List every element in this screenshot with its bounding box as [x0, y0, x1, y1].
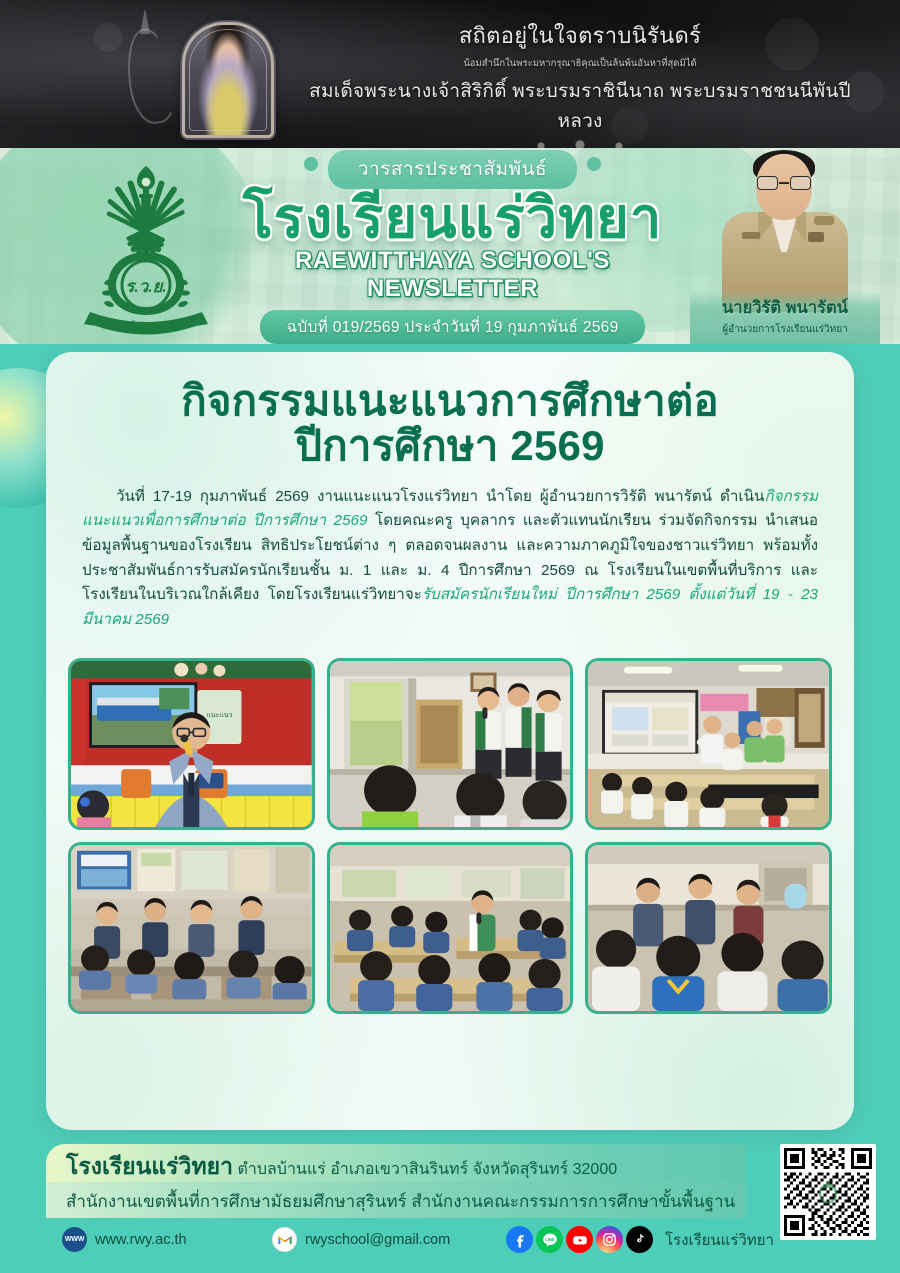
director-portrait-block: นายวิรัติ พนารัตน์ ผู้อำนวยการโรงเรียนแร… — [690, 148, 880, 344]
issue-date-badge: ฉบับที่ 019/2569 ประจำวันที่ 19 กุมภาพัน… — [260, 310, 644, 344]
youtube-icon[interactable] — [566, 1226, 593, 1253]
footer: โรงเรียนแร่วิทยา ตำบลบ้านแร่ อำเภอเขวาสิ… — [0, 1138, 900, 1273]
svg-text:แนะแนว: แนะแนว — [206, 713, 232, 720]
social-account-name: โรงเรียนแร่วิทยา — [665, 1228, 774, 1252]
school-name-thai: โรงเรียนแร่วิทยา — [215, 191, 690, 246]
newsletter-page: สถิตอยู่ในใจตราบนิรันดร์ น้อมสำนึกในพระม… — [0, 0, 900, 1273]
photo-students-presenting[interactable] — [327, 658, 574, 830]
photo-students-seated-tables[interactable] — [327, 842, 574, 1014]
website-contact[interactable]: WWW www.rwy.ac.th — [62, 1227, 272, 1252]
photo-gallery: แนะแนว — [68, 658, 832, 1014]
footer-affiliation: สำนักงานเขตพื้นที่การศึกษามัธยมศึกษาสุริ… — [66, 1188, 735, 1215]
gmail-icon — [272, 1227, 297, 1252]
photo-director-presenting[interactable]: แนะแนว — [68, 658, 315, 830]
footer-address: ตำบลบ้านแร่ อำเภอเขวาสินรินทร์ จังหวัดสุ… — [237, 1161, 617, 1178]
glasses-icon — [756, 176, 812, 190]
footer-contacts: WWW www.rwy.ac.th rwyschool@gmail.com — [62, 1226, 774, 1253]
royal-portrait — [182, 22, 274, 138]
svg-text:LINE: LINE — [545, 1236, 555, 1241]
email-contact[interactable]: rwyschool@gmail.com — [272, 1227, 502, 1252]
svg-text:นิสัยดี สามารถงาน: นิสัยดี สามารถงาน — [118, 320, 175, 328]
royal-divider-ornament-icon — [515, 140, 645, 148]
masthead-titles: วารสารประชาสัมพันธ์ โรงเรียนแร่วิทยา RAE… — [215, 150, 690, 344]
social-links: LINE — [506, 1226, 774, 1253]
director-epaulet — [814, 216, 834, 225]
royal-tribute-text: สถิตอยู่ในใจตราบนิรันดร์ น้อมสำนึกในพระม… — [290, 18, 870, 148]
line-icon[interactable]: LINE — [536, 1226, 563, 1253]
school-name-english: RAEWITTHAYA SCHOOL'S NEWSLETTER — [215, 247, 690, 303]
content-card: กิจกรรมแนะแนวการศึกษาต่อ ปีการศึกษา 2569… — [46, 352, 854, 1130]
qr-code[interactable] — [780, 1144, 876, 1240]
school-logo: ร.ว.ย. นิสัยดี สามารถงาน — [78, 156, 214, 336]
article-body-segment-1: วันที่ 17-19 กุมภาพันธ์ 2569 งานแนะแนวโร… — [116, 488, 764, 505]
photo-classroom-audience[interactable] — [68, 842, 315, 1014]
photo-classroom-projector[interactable] — [585, 658, 832, 830]
director-name-band: นายวิรัติ พนารัตน์ ผู้อำนวยการโรงเรียนแร… — [690, 291, 880, 344]
globe-icon: WWW — [62, 1227, 87, 1252]
article-headline-line-1: กิจกรรมแนะแนวการศึกษาต่อ — [82, 378, 818, 423]
newsletter-kicker: วารสารประชาสัมพันธ์ — [328, 150, 577, 189]
director-name-tag — [742, 232, 760, 239]
instagram-icon[interactable] — [596, 1226, 623, 1253]
article-headline: กิจกรรมแนะแนวการศึกษาต่อ ปีการศึกษา 2569 — [82, 378, 818, 469]
royal-line-3: สมเด็จพระนางเจ้าสิริกิติ์ พระบรมราชินีนา… — [290, 76, 870, 136]
footer-school-name: โรงเรียนแร่วิทยา — [66, 1153, 233, 1179]
footer-school-line: โรงเรียนแร่วิทยา ตำบลบ้านแร่ อำเภอเขวาสิ… — [66, 1149, 617, 1185]
photo-group-discussion[interactable] — [585, 842, 832, 1014]
facebook-icon[interactable] — [506, 1226, 533, 1253]
email-address: rwyschool@gmail.com — [305, 1232, 450, 1248]
director-name: นายวิรัติ พนารัตน์ — [690, 295, 880, 321]
article-body: วันที่ 17-19 กุมภาพันธ์ 2569 งานแนะแนวโร… — [82, 485, 818, 633]
royal-line-1: สถิตอยู่ในใจตราบนิรันดร์ — [290, 18, 870, 53]
royal-line-2: น้อมสำนึกในพระมหากรุณาธิคุณเป็นล้นพ้นอัน… — [290, 56, 870, 71]
tiktok-icon[interactable] — [626, 1226, 653, 1253]
svg-text:ร.ว.ย.: ร.ว.ย. — [125, 277, 166, 296]
director-insignia — [808, 232, 824, 242]
website-url: www.rwy.ac.th — [95, 1232, 187, 1248]
director-photo — [714, 152, 856, 310]
director-role: ผู้อำนวยการโรงเรียนแร่วิทยา — [690, 322, 880, 337]
article-headline-line-2: ปีการศึกษา 2569 — [82, 423, 818, 468]
royal-tribute-banner: สถิตอยู่ในใจตราบนิรันดร์ น้อมสำนึกในพระม… — [0, 0, 900, 148]
